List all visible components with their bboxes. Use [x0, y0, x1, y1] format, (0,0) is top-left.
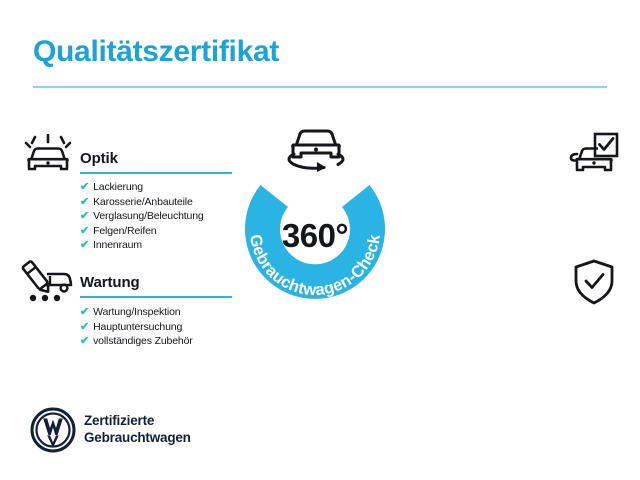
vw-brand-line-1: Zertifizierte — [84, 412, 191, 429]
section-optik-divider — [80, 172, 232, 174]
list-item: ✔Lackierung — [80, 180, 204, 195]
list-item: ✔Karosserie/Anbauteile — [80, 195, 204, 210]
check-icon: ✔ — [80, 335, 89, 347]
check-icon: ✔ — [80, 196, 89, 208]
list-item: ✔vollständiges Zubehör — [80, 334, 193, 349]
list-item: ✔Wartung/Inspektion — [80, 305, 193, 320]
list-item-label: Wartung/Inspektion — [93, 306, 180, 318]
list-item-label: Hauptuntersuchung — [93, 321, 182, 333]
section-optik-list: ✔Lackierung ✔Karosserie/Anbauteile ✔Verg… — [80, 180, 204, 253]
section-wartung-divider — [80, 296, 232, 298]
list-item-label: vollständiges Zubehör — [93, 335, 193, 347]
list-item: ✔Hauptuntersuchung — [80, 320, 193, 335]
check-icon: ✔ — [80, 239, 89, 251]
vw-brand-text: Zertifizierte Gebrauchtwagen — [84, 412, 191, 446]
section-wartung-heading: Wartung — [80, 274, 140, 291]
list-item-label: Innenraum — [93, 239, 142, 251]
check-icon: ✔ — [80, 321, 89, 333]
list-item: ✔Felgen/Reifen — [80, 224, 204, 239]
section-wartung-list: ✔Wartung/Inspektion ✔Hauptuntersuchung ✔… — [80, 305, 193, 349]
vw-brand-line-2: Gebrauchtwagen — [84, 429, 191, 446]
badge-360-gebrauchtwagen-check: Gebrauchtwagen-Check 360° — [232, 155, 398, 305]
check-icon: ✔ — [80, 210, 89, 222]
page-title: Qualitätszertifikat — [33, 35, 279, 69]
list-item: ✔Innenraum — [80, 238, 204, 253]
footer-brand: Zertifizierte Gebrauchtwagen — [30, 405, 330, 460]
check-icon: ✔ — [80, 181, 89, 193]
wrench-car-service-icon — [20, 258, 74, 311]
car-checkbox-icon — [568, 132, 620, 183]
car-rotate-360-icon — [280, 120, 352, 187]
list-item-label: Karosserie/Anbauteile — [93, 196, 193, 208]
vw-logo-icon — [30, 407, 76, 458]
check-icon: ✔ — [80, 225, 89, 237]
list-item: ✔Verglasung/Beleuchtung — [80, 209, 204, 224]
certificate-page: Qualitätszertifikat Optik ✔Lackierung ✔K — [0, 0, 640, 480]
section-optik-heading: Optik — [80, 150, 118, 167]
shield-check-icon — [572, 258, 616, 311]
badge-number: 360° — [232, 217, 398, 255]
list-item-label: Felgen/Reifen — [93, 225, 156, 237]
list-item-label: Lackierung — [93, 181, 143, 193]
list-item-label: Verglasung/Beleuchtung — [93, 210, 204, 222]
title-divider — [33, 86, 607, 88]
check-icon: ✔ — [80, 306, 89, 318]
sparkling-car-icon — [22, 134, 74, 183]
